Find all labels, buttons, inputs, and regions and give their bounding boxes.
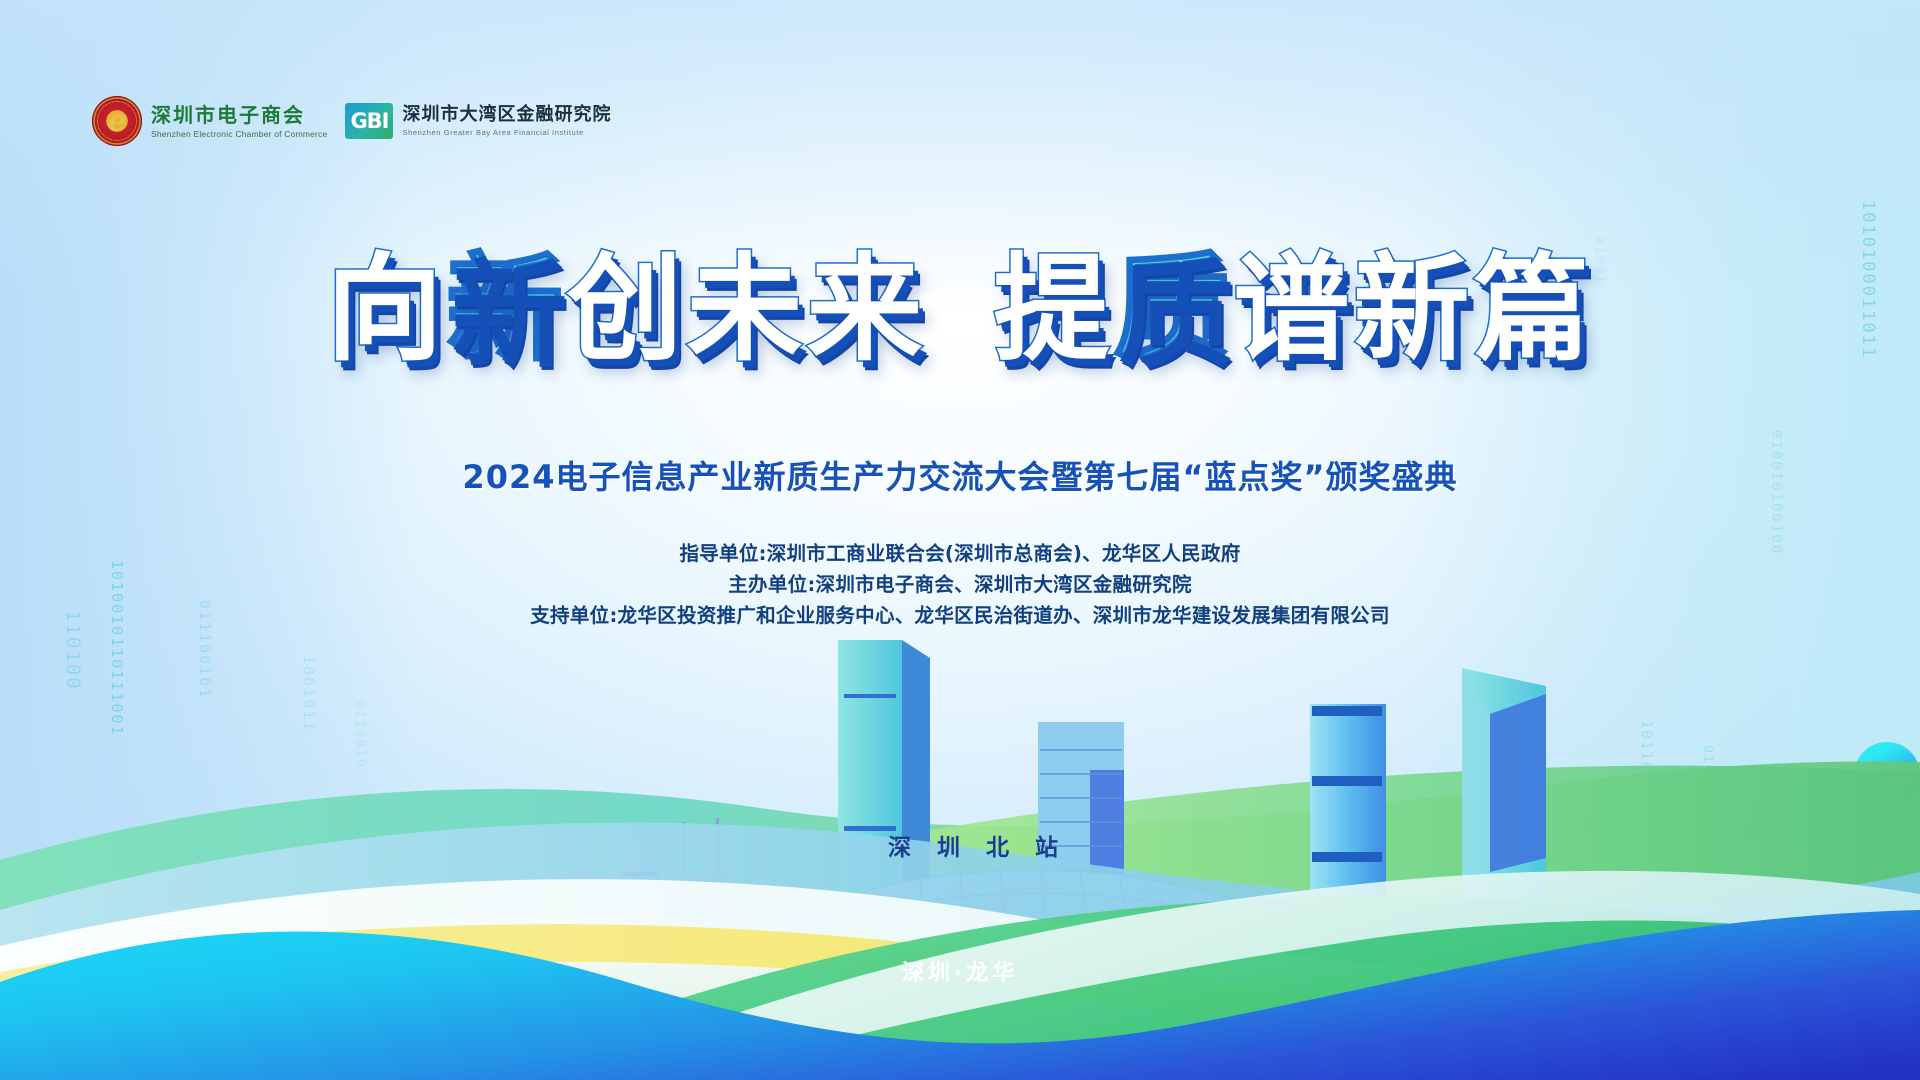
city-label: 深圳·龙华 — [0, 955, 1920, 987]
station-label: 深 圳 北 站 — [888, 828, 1067, 862]
title-line-right: 提质谱新篇 — [993, 252, 1593, 368]
gbi-name-cn: 深圳市大湾区金融研究院 — [402, 105, 611, 125]
title-left-char-3: 未 — [687, 252, 807, 368]
title-left-char-1: 新 — [447, 252, 567, 368]
chamber-name-en: Shenzhen Electronic Chamber of Commerce — [151, 129, 327, 139]
title-left-char-2: 创 — [567, 252, 687, 368]
logo-shenzhen-greater-bay-area-financial-institute: GBI 深圳市大湾区金融研究院 Shenzhen Greater Bay Are… — [345, 103, 611, 139]
main-title: 向新创未来 提质谱新篇 — [0, 252, 1920, 368]
chamber-logo-text: 深圳市电子商会 Shenzhen Electronic Chamber of C… — [151, 104, 327, 139]
organizer-line-guidance: 指导单位:深圳市工商业联合会(深圳市总商会)、龙华区人民政府 — [0, 538, 1920, 569]
event-subtitle: 2024电子信息产业新质生产力交流大会暨第七届“蓝点奖”颁奖盛典 — [0, 452, 1920, 498]
title-right-char-0: 提 — [993, 252, 1113, 368]
gbi-logo-text: 深圳市大湾区金融研究院 Shenzhen Greater Bay Area Fi… — [402, 105, 611, 137]
gbi-mark-icon: GBI — [345, 103, 393, 139]
title-right-char-4: 篇 — [1473, 252, 1593, 368]
gbi-name-en: Shenzhen Greater Bay Area Financial Inst… — [402, 128, 611, 137]
title-right-char-2: 谱 — [1233, 252, 1353, 368]
title-left-char-4: 来 — [807, 252, 927, 368]
poster-canvas: 1101001010010110111001011100101100101101… — [0, 0, 1920, 1080]
title-left-char-0: 向 — [327, 252, 447, 368]
title-right-char-1: 质 — [1113, 252, 1233, 368]
seal-ring-icon — [97, 101, 137, 141]
title-line-left: 向新创未来 — [327, 252, 927, 368]
chamber-seal-icon — [92, 96, 142, 146]
title-right-char-3: 新 — [1353, 252, 1473, 368]
logo-shenzhen-electronic-chamber-of-commerce: 深圳市电子商会 Shenzhen Electronic Chamber of C… — [92, 96, 327, 146]
chamber-name-cn: 深圳市电子商会 — [151, 104, 327, 126]
organizer-line-host: 主办单位:深圳市电子商会、深圳市大湾区金融研究院 — [0, 569, 1920, 600]
logo-bar: 深圳市电子商会 Shenzhen Electronic Chamber of C… — [92, 96, 611, 146]
